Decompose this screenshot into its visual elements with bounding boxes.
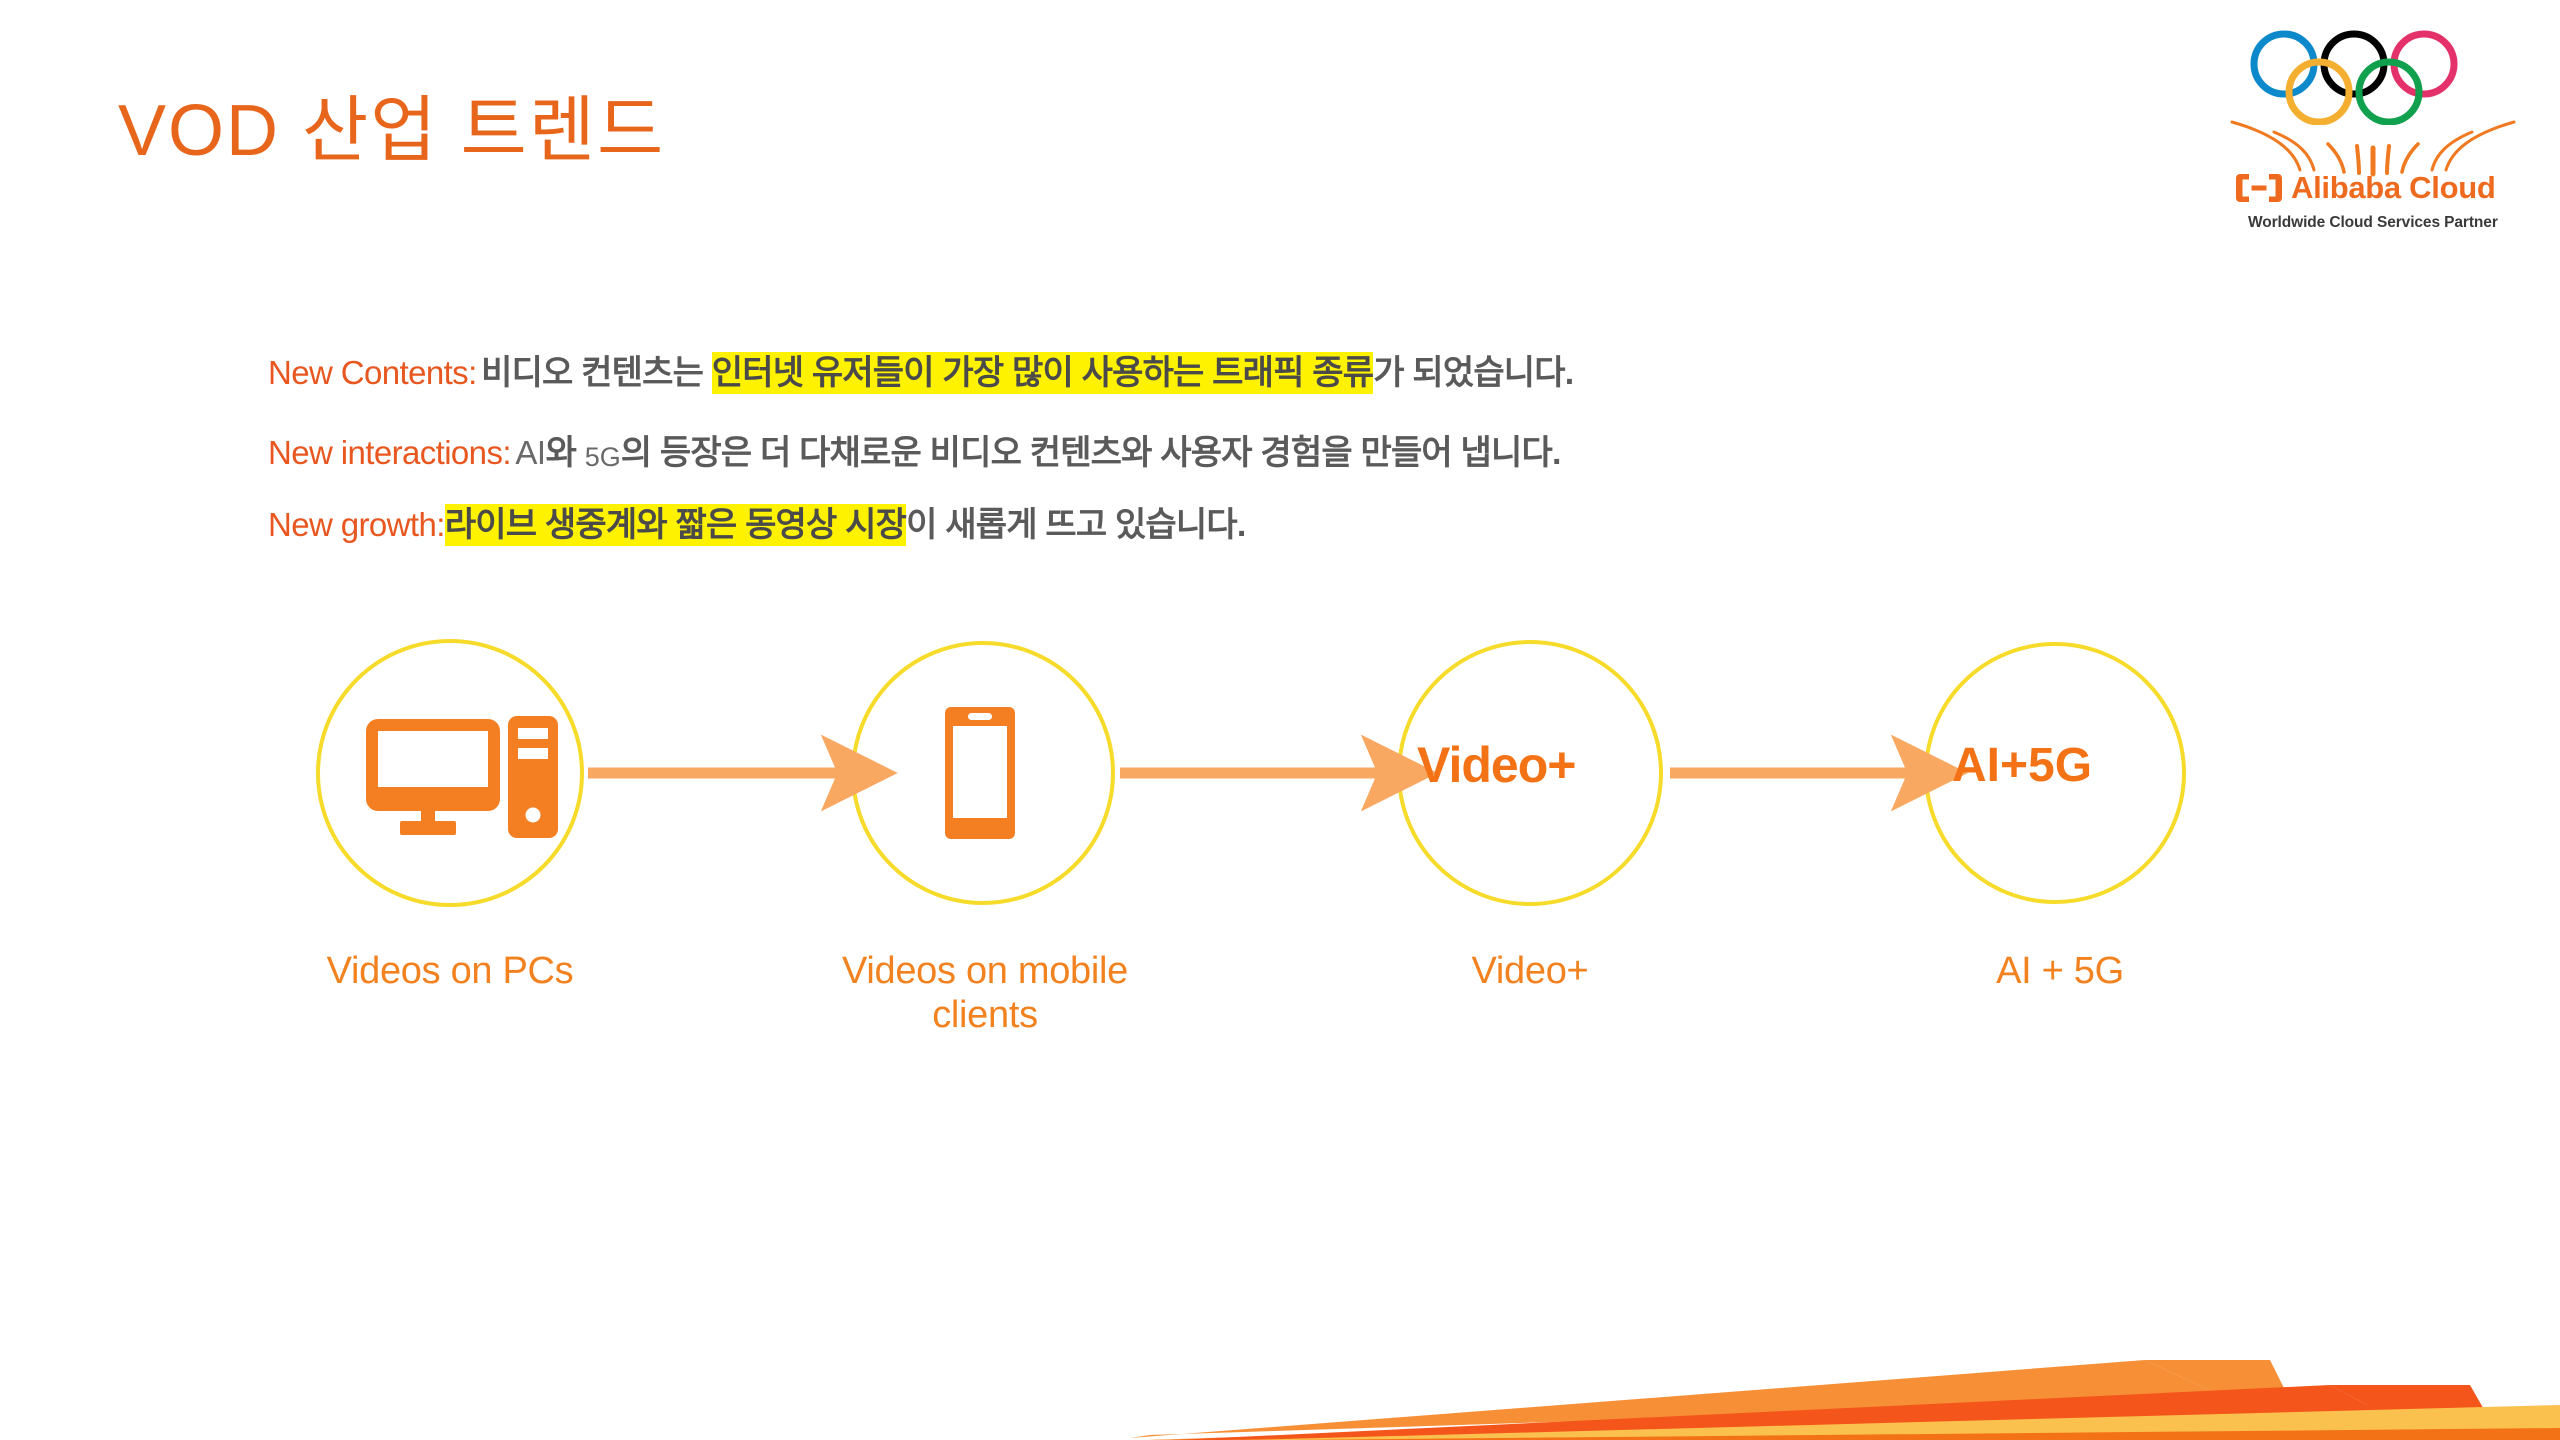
alibaba-bracket-icon xyxy=(2236,173,2282,203)
flow-diagram xyxy=(0,0,2560,1440)
bullet-label: New Contents: xyxy=(268,354,477,391)
decorative-ribbons-detail xyxy=(0,1260,2560,1440)
fan-burst-icon xyxy=(2228,118,2518,178)
bullet-segment: 와 xyxy=(546,434,585,472)
bullet-segment: AI xyxy=(515,434,545,471)
bullet-segment: 이 새롭게 뜨고 있습니다. xyxy=(906,506,1245,544)
logo-tagline: Worldwide Cloud Services Partner xyxy=(2248,214,2498,232)
flow-caption-pc: Videos on PCs xyxy=(250,950,650,994)
flow-node-circle-mobile xyxy=(853,643,1113,903)
flow-node-label-videoplus: Video+ xyxy=(1417,740,1575,790)
bullet-segment-highlight: 인터넷 유저들이 가장 많이 사용하는 트래픽 종류 xyxy=(712,352,1373,394)
logo-wordmark: Alibaba Cloud xyxy=(2236,172,2496,203)
bullet-line-new-interactions: New interactions: AI와 5G의 등장은 더 다채로운 비디오… xyxy=(268,436,1561,471)
smartphone-icon xyxy=(945,707,1015,839)
flow-node-label-ai5g: AI+5G xyxy=(1952,742,2092,790)
bullet-line-new-growth: New growth:라이브 생중계와 짧은 동영상 시장이 새롭게 뜨고 있습… xyxy=(268,508,1246,542)
logo-brand-text: Alibaba Cloud xyxy=(2291,172,2496,203)
alibaba-cloud-logo: Alibaba Cloud Worldwide Cloud Services P… xyxy=(2228,30,2518,250)
page-title: VOD 산업 트렌드 xyxy=(118,95,665,167)
bullet-label: New growth: xyxy=(268,506,445,543)
flow-caption-videoplus: Video+ xyxy=(1340,950,1720,994)
desktop-computer-icon xyxy=(366,716,558,838)
flow-caption-ai5g: AI + 5G xyxy=(1870,950,2250,994)
bullet-segment-5g: 5G xyxy=(585,442,621,472)
bullet-segment: 가 되었습니다. xyxy=(1373,354,1573,392)
bullet-segment-highlight: 라이브 생중계와 짧은 동영상 시장 xyxy=(445,504,906,546)
bullet-line-new-contents: New Contents: 비디오 컨텐츠는 인터넷 유저들이 가장 많이 사용… xyxy=(268,356,1573,390)
bullet-label: New interactions: xyxy=(268,434,511,471)
bullet-segment: 비디오 컨텐츠는 xyxy=(481,354,712,392)
flow-caption-mobile: Videos on mobile clients xyxy=(790,950,1180,1037)
flow-node-circle-pc xyxy=(318,641,582,905)
bullet-segment: 의 등장은 더 다채로운 비디오 컨텐츠와 사용자 경험을 만들어 냅니다. xyxy=(621,434,1561,472)
olympic-rings-icon xyxy=(2246,30,2506,125)
